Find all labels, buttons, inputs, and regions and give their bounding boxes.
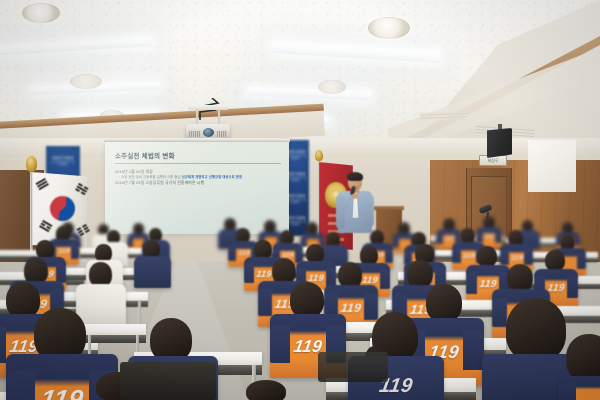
- chair-back: [120, 362, 216, 400]
- uniform-119-badge: 119: [340, 302, 362, 314]
- attendee-head: [407, 260, 433, 288]
- presenter-arm: [365, 195, 374, 227]
- wall-white-column: [528, 140, 576, 192]
- exit-sign-label: 비상구: [488, 159, 498, 163]
- podium-top: [374, 206, 404, 210]
- slide-title: 소주실전 체법의 변화: [115, 151, 281, 162]
- attendee-head: [290, 282, 324, 318]
- presenter-arm: [336, 195, 345, 229]
- slide-bullet-text: 2018년 7월 23일 소방공무원 국가직 전환에따른 시행: [115, 180, 204, 185]
- recessed-downlight: [70, 74, 102, 89]
- attendee-head: [246, 380, 286, 400]
- presenter-hair: [347, 172, 363, 181]
- attendee-uniform: [134, 256, 171, 288]
- attendee-head: [506, 298, 566, 362]
- projector-vent: [217, 131, 227, 137]
- uniform-119-badge: 119: [484, 235, 494, 240]
- uniform-119-badge: 119: [362, 276, 379, 285]
- projection-screen: 소주실전 체법의 변화 2015년 1월 20일 개정 · 소방 현장 장비 자…: [105, 142, 289, 234]
- attendee-head: [507, 264, 533, 292]
- ceiling-air-vent: [420, 111, 466, 121]
- slide-highlight-text: 신규체계 개편되고 신행규정 대상으로 변경: [182, 175, 242, 179]
- projector-mount-plate: [188, 105, 228, 110]
- uniform-119-badge: 119: [479, 280, 498, 290]
- fire-flagpole-finial: [315, 150, 323, 161]
- banner-logo-secondary: GOVERNMENT OF KOREA: [48, 161, 77, 166]
- recessed-downlight: [318, 80, 346, 94]
- attendee-uniform: [76, 284, 126, 328]
- attendee-uniform: [558, 376, 600, 400]
- uniform-119-badge: 119: [57, 249, 70, 256]
- presenter-hand: [352, 193, 358, 199]
- slide-content: 소주실전 체법의 변화 2015년 1월 20일 개정 · 소방 현장 장비 자…: [115, 151, 281, 186]
- uniform-119-badge: 119: [444, 237, 454, 242]
- slide-bullet: 2018년 7월 23일 소방공무원 국가직 전환에따른 시행: [115, 180, 281, 186]
- projector-lens: [203, 128, 214, 137]
- uniform-119-badge: 119: [256, 270, 273, 279]
- recessed-downlight: [368, 17, 410, 39]
- slide-title-rule: [115, 163, 281, 164]
- recessed-downlight: [22, 3, 60, 23]
- attendee-head: [545, 250, 565, 271]
- chair-back: [318, 352, 388, 382]
- wall-speaker: [487, 128, 512, 158]
- attendee-head: [566, 334, 600, 382]
- uniform-119-badge: 119: [462, 253, 475, 260]
- banner-logo: 대한민국정부 GOVERNMENT OF KOREA: [48, 157, 77, 166]
- flagpole-finial: [26, 156, 37, 172]
- lecture-hall-photo: 비상구 대한민국정부 GOVERNMENT OF KOREA 대한민국정부 GO…: [0, 0, 600, 400]
- uniform-119-badge: 119: [510, 255, 523, 262]
- uniform-119-badge: 119: [39, 386, 86, 400]
- attendee-head: [426, 284, 462, 322]
- slide-sub-text: · 소방 현장 장비 자동화를 실행한 사항 중심: [119, 175, 181, 179]
- attendee-head: [6, 282, 40, 318]
- attendee-head: [477, 246, 497, 267]
- projector-vent: [189, 131, 200, 137]
